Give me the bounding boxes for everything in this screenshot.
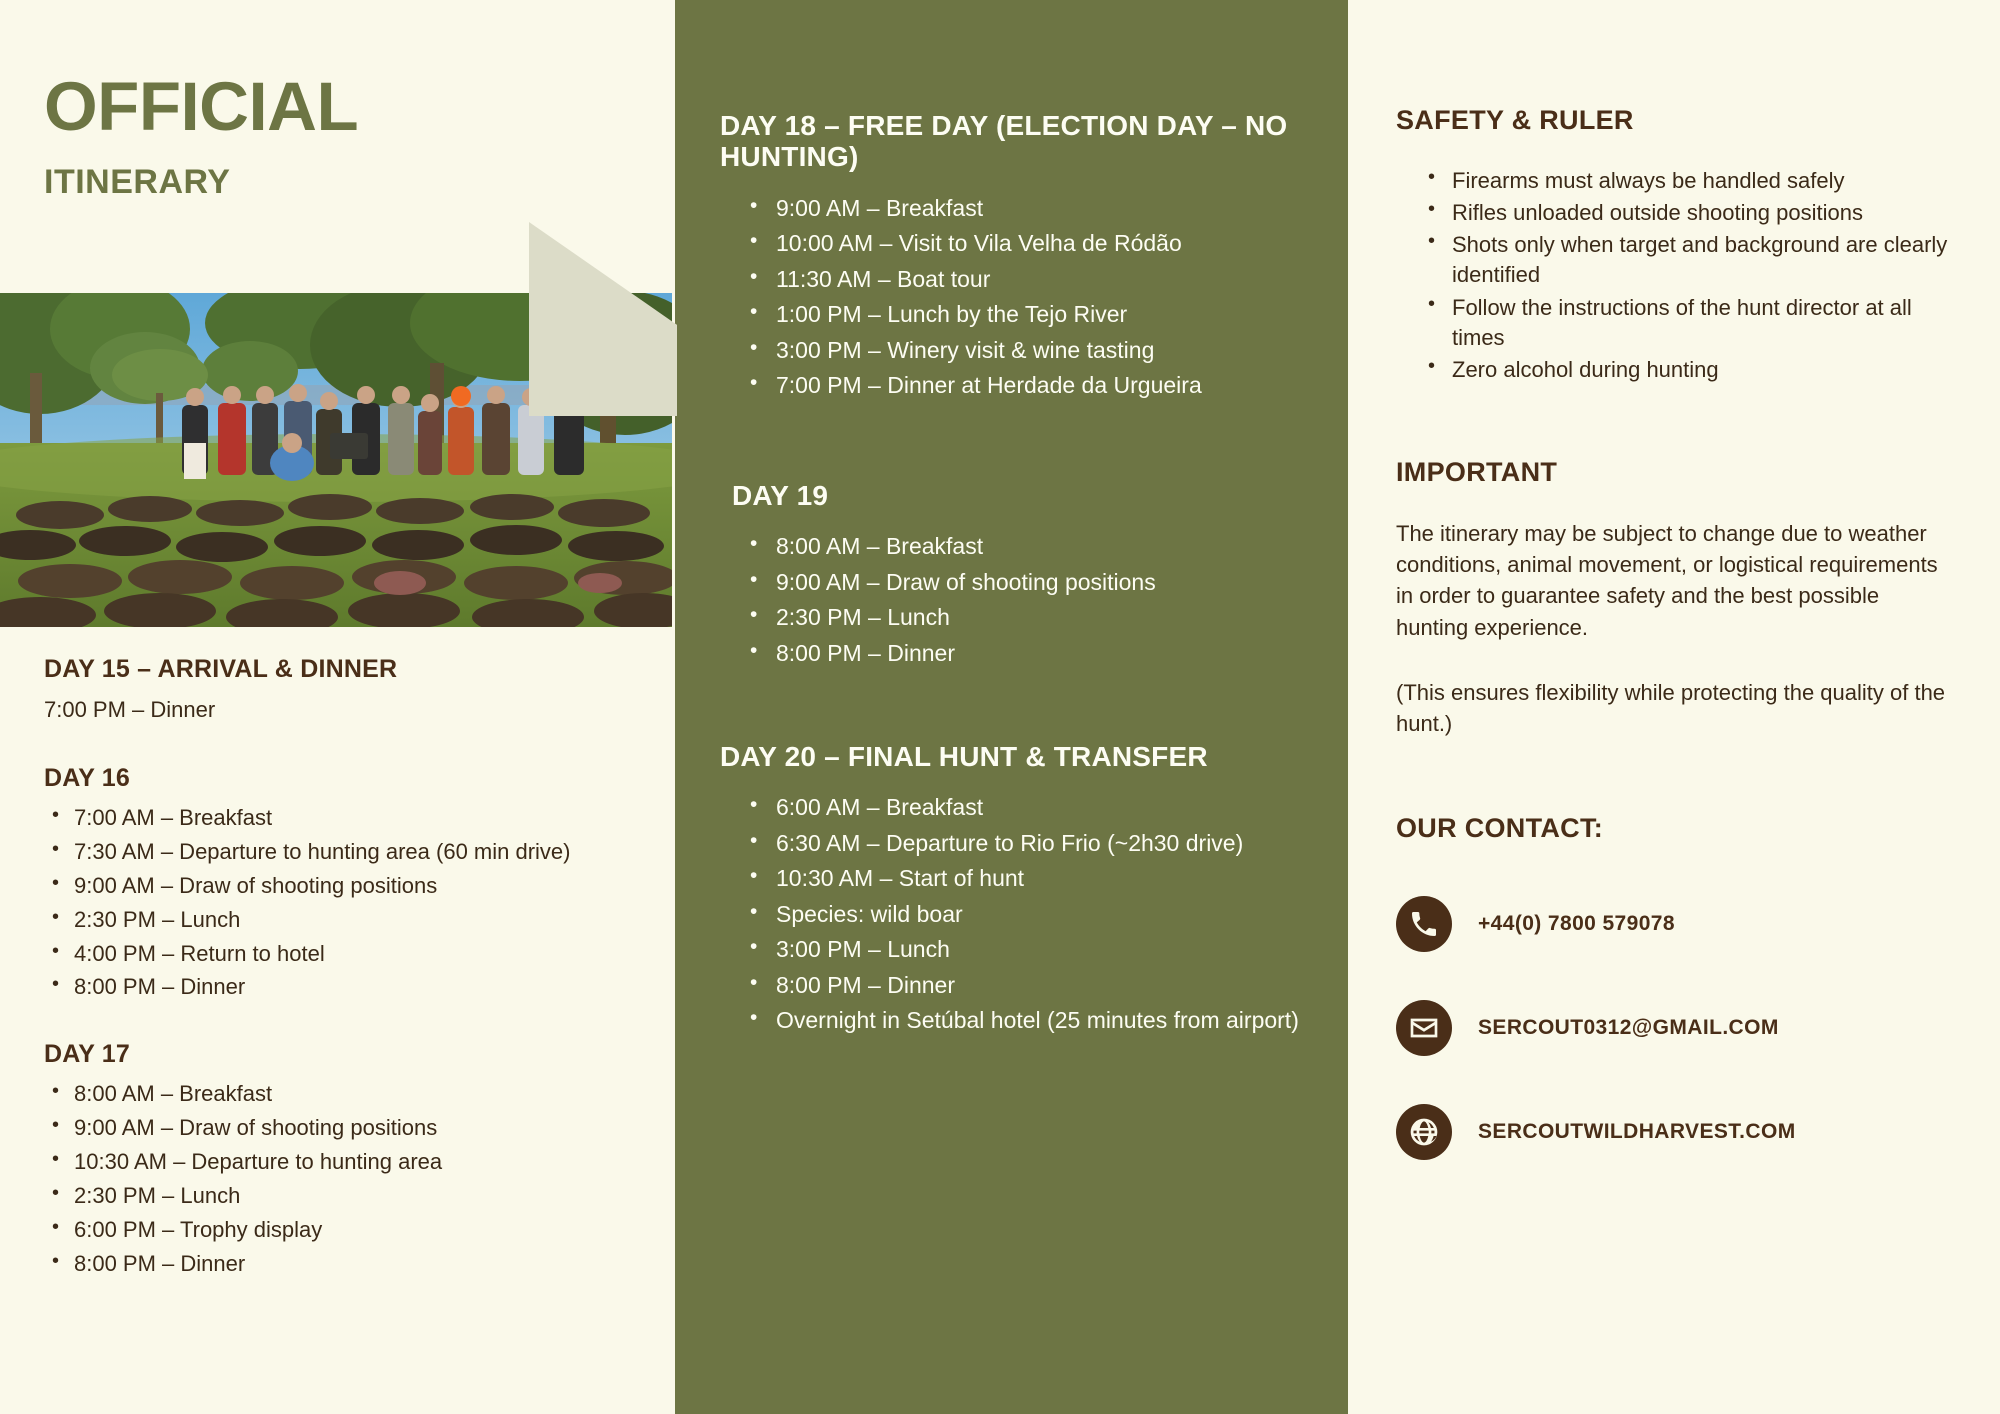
- day15-line: 7:00 PM – Dinner: [44, 694, 654, 726]
- contact-email-value: SERCOUT0312@GMAIL.COM: [1478, 1016, 1779, 1040]
- important-heading: IMPORTANT: [1396, 457, 1950, 488]
- list-item: 10:30 AM – Start of hunt: [742, 863, 1308, 895]
- itinerary-poster: OFFICIAL ITINERARY: [0, 0, 2000, 1414]
- list-item: 1:00 PM – Lunch by the Tejo River: [742, 299, 1308, 331]
- list-item: Follow the instructions of the hunt dire…: [1420, 293, 1950, 353]
- list-item: 7:30 AM – Departure to hunting area (60 …: [44, 837, 654, 867]
- list-item: 6:00 AM – Breakfast: [742, 792, 1308, 824]
- list-item: 9:00 AM – Draw of shooting positions: [44, 871, 654, 901]
- safety-heading: SAFETY & RULER: [1396, 105, 1950, 136]
- list-item: 10:30 AM – Departure to hunting area: [44, 1147, 654, 1177]
- day16-list: 7:00 AM – Breakfast 7:30 AM – Departure …: [44, 803, 654, 1002]
- list-item: 8:00 PM – Dinner: [742, 638, 1308, 670]
- list-item: 8:00 PM – Dinner: [44, 1249, 654, 1279]
- day19-list: 8:00 AM – Breakfast 9:00 AM – Draw of sh…: [720, 531, 1308, 669]
- list-item: Species: wild boar: [742, 899, 1308, 931]
- list-item: 8:00 PM – Dinner: [742, 970, 1308, 1002]
- list-item: 7:00 PM – Dinner at Herdade da Urgueira: [742, 370, 1308, 402]
- list-item: 10:00 AM – Visit to Vila Velha de Ródão: [742, 228, 1308, 260]
- title-block: OFFICIAL ITINERARY: [0, 0, 675, 202]
- spacer: [720, 406, 1308, 480]
- list-item: Rifles unloaded outside shooting positio…: [1420, 198, 1950, 228]
- list-item: Shots only when target and background ar…: [1420, 230, 1950, 290]
- list-item: 8:00 AM – Breakfast: [44, 1079, 654, 1109]
- mail-icon: [1396, 1000, 1452, 1056]
- list-item: 3:00 PM – Winery visit & wine tasting: [742, 335, 1308, 367]
- day20-heading: DAY 20 – FINAL HUNT & TRANSFER: [720, 741, 1308, 772]
- list-item: 8:00 AM – Breakfast: [742, 531, 1308, 563]
- list-item: 6:30 AM – Departure to Rio Frio (~2h30 d…: [742, 828, 1308, 860]
- list-item: 6:00 PM – Trophy display: [44, 1215, 654, 1245]
- day19-heading: DAY 19: [732, 480, 1308, 511]
- list-item: 2:30 PM – Lunch: [742, 602, 1308, 634]
- page-title: OFFICIAL: [44, 72, 675, 141]
- list-item: Zero alcohol during hunting: [1420, 355, 1950, 385]
- important-paragraph-2: (This ensures flexibility while protecti…: [1396, 677, 1950, 739]
- list-item: 2:30 PM – Lunch: [44, 1181, 654, 1211]
- list-item: 2:30 PM – Lunch: [44, 905, 654, 935]
- day18-heading: DAY 18 – FREE DAY (ELECTION DAY – NO HUN…: [720, 110, 1308, 173]
- list-item: 9:00 AM – Breakfast: [742, 193, 1308, 225]
- globe-icon: [1396, 1104, 1452, 1160]
- middle-column: DAY 18 – FREE DAY (ELECTION DAY – NO HUN…: [675, 0, 1348, 1414]
- contact-row-phone[interactable]: +44(0) 7800 579078: [1396, 896, 1950, 952]
- contact-website-value: SERCOUTWILDHARVEST.COM: [1478, 1120, 1796, 1144]
- contact-list: +44(0) 7800 579078 SERCOUT0312@GMAIL.COM…: [1396, 896, 1950, 1160]
- day17-list: 8:00 AM – Breakfast 9:00 AM – Draw of sh…: [44, 1079, 654, 1278]
- day20-list: 6:00 AM – Breakfast 6:30 AM – Departure …: [720, 792, 1308, 1037]
- safety-list: Firearms must always be handled safely R…: [1396, 166, 1950, 385]
- contact-row-email[interactable]: SERCOUT0312@GMAIL.COM: [1396, 1000, 1950, 1056]
- list-item: 3:00 PM – Lunch: [742, 934, 1308, 966]
- list-item: 4:00 PM – Return to hotel: [44, 939, 654, 969]
- day17-heading: DAY 17: [44, 1040, 654, 1069]
- day16-heading: DAY 16: [44, 764, 654, 793]
- list-item: Overnight in Setúbal hotel (25 minutes f…: [742, 1005, 1308, 1037]
- right-column: SAFETY & RULER Firearms must always be h…: [1348, 0, 2000, 1414]
- page-subtitle: ITINERARY: [44, 163, 675, 202]
- list-item: Firearms must always be handled safely: [1420, 166, 1950, 196]
- spacer: [720, 673, 1308, 741]
- list-item: 8:00 PM – Dinner: [44, 972, 654, 1002]
- list-item: 9:00 AM – Draw of shooting positions: [742, 567, 1308, 599]
- day15-heading: DAY 15 – ARRIVAL & DINNER: [44, 655, 654, 684]
- list-item: 11:30 AM – Boat tour: [742, 264, 1308, 296]
- list-item: 7:00 AM – Breakfast: [44, 803, 654, 833]
- list-item: 9:00 AM – Draw of shooting positions: [44, 1113, 654, 1143]
- left-content: DAY 15 – ARRIVAL & DINNER 7:00 PM – Dinn…: [44, 655, 654, 1283]
- day18-list: 9:00 AM – Breakfast 10:00 AM – Visit to …: [720, 193, 1308, 402]
- left-column: OFFICIAL ITINERARY: [0, 0, 675, 1414]
- important-paragraph-1: The itinerary may be subject to change d…: [1396, 518, 1950, 643]
- contact-phone-value: +44(0) 7800 579078: [1478, 912, 1675, 936]
- contact-heading: OUR CONTACT:: [1396, 813, 1950, 844]
- contact-row-website[interactable]: SERCOUTWILDHARVEST.COM: [1396, 1104, 1950, 1160]
- phone-icon: [1396, 896, 1452, 952]
